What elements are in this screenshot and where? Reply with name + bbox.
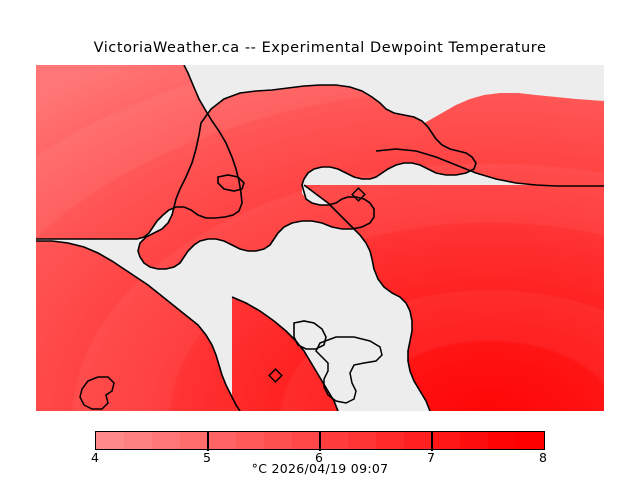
- colorbar-tick-6: [319, 431, 321, 451]
- weather-map-page: VictoriaWeather.ca -- Experimental Dewpo…: [0, 0, 640, 480]
- dewpoint-contour-map[interactable]: [36, 65, 604, 411]
- colorbar-caption: °C 2026/04/19 09:07: [0, 461, 640, 476]
- page-title: VictoriaWeather.ca -- Experimental Dewpo…: [0, 40, 640, 56]
- colorbar-tick-7: [431, 431, 433, 451]
- colorbar-tick-5: [207, 431, 209, 451]
- map-panel[interactable]: [36, 65, 604, 411]
- colorbar-ticks: [95, 431, 543, 451]
